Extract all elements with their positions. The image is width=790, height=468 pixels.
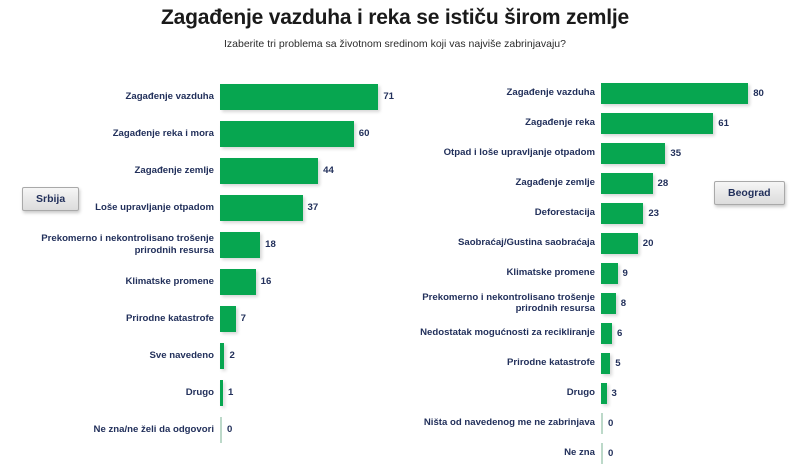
bar[interactable] bbox=[220, 232, 260, 258]
bar[interactable] bbox=[601, 323, 612, 344]
chart-page: Zagađenje vazduha i reka se ističu širom… bbox=[0, 0, 790, 453]
bar-value-label: 60 bbox=[354, 128, 370, 139]
bar-category-label: Prekomerno i nekontrolisano trošenje pri… bbox=[395, 292, 601, 315]
panel-badge-srbija[interactable]: Srbija bbox=[22, 187, 79, 211]
bar-value-label: 61 bbox=[713, 118, 729, 129]
bar-row: Nedostatak mogućnosti za recikliranje6 bbox=[395, 318, 790, 348]
bar-row: Drugo3 bbox=[395, 378, 790, 408]
bar-track: 1 bbox=[220, 374, 395, 411]
bar-track: 71 bbox=[220, 78, 395, 115]
bar-row: Zagađenje zemlje44 bbox=[0, 152, 395, 189]
bar-track: 35 bbox=[601, 138, 790, 168]
chart-panel-srbija: Zagađenje vazduha71Zagađenje reka i mora… bbox=[0, 78, 395, 448]
bar-row: Ne zna0 bbox=[395, 438, 790, 468]
bar-track: 20 bbox=[601, 228, 790, 258]
bar-track: 0 bbox=[601, 408, 790, 438]
bar-track: 5 bbox=[601, 348, 790, 378]
bar-category-label: Otpad i loše upravljanje otpadom bbox=[395, 147, 601, 158]
bar-row: Prekomerno i nekontrolisano trošenje pri… bbox=[395, 288, 790, 318]
bar-value-label: 8 bbox=[616, 298, 626, 309]
bar[interactable] bbox=[220, 158, 318, 184]
bar-category-label: Zagađenje zemlje bbox=[395, 177, 601, 188]
bar-row: Ništa od navedenog me ne zabrinjava0 bbox=[395, 408, 790, 438]
bar-track: 44 bbox=[220, 152, 395, 189]
bar-value-label: 23 bbox=[643, 208, 659, 219]
bar-value-label: 80 bbox=[748, 88, 764, 99]
chart-panel-beograd: Zagađenje vazduha80Zagađenje reka61Otpad… bbox=[395, 78, 790, 468]
panel-badge-beograd[interactable]: Beograd bbox=[714, 181, 785, 205]
bar[interactable] bbox=[220, 269, 256, 295]
bar-row: Prekomerno i nekontrolisano trošenje pri… bbox=[0, 226, 395, 263]
bar[interactable] bbox=[601, 293, 616, 314]
bar-track: 61 bbox=[601, 108, 790, 138]
bar-value-label: 0 bbox=[603, 448, 613, 459]
bar-value-label: 5 bbox=[610, 358, 620, 369]
bar-value-label: 37 bbox=[303, 202, 319, 213]
bar-track: 3 bbox=[601, 378, 790, 408]
bar-row: Klimatske promene9 bbox=[395, 258, 790, 288]
bar[interactable] bbox=[601, 173, 653, 194]
bar-track: 8 bbox=[601, 288, 790, 318]
bar-track: 37 bbox=[220, 189, 395, 226]
bar-row: Prirodne katastrofe5 bbox=[395, 348, 790, 378]
bar-category-label: Zagađenje zemlje bbox=[0, 165, 220, 176]
bar-category-label: Prekomerno i nekontrolisano trošenje pri… bbox=[0, 233, 220, 256]
bar-category-label: Zagađenje reka bbox=[395, 117, 601, 128]
bar[interactable] bbox=[220, 84, 378, 110]
bar-value-label: 18 bbox=[260, 239, 276, 250]
bar[interactable] bbox=[601, 353, 610, 374]
bar-track: 60 bbox=[220, 115, 395, 152]
bar-row: Ne zna/ne želi da odgovori0 bbox=[0, 411, 395, 448]
bar-value-label: 35 bbox=[665, 148, 681, 159]
bar-row: Klimatske promene16 bbox=[0, 263, 395, 300]
bar-track: 80 bbox=[601, 78, 790, 108]
bar-track: 0 bbox=[220, 411, 395, 448]
bar-category-label: Deforestacija bbox=[395, 207, 601, 218]
bar[interactable] bbox=[220, 306, 236, 332]
bar-row: Drugo1 bbox=[0, 374, 395, 411]
bar-row: Zagađenje vazduha71 bbox=[0, 78, 395, 115]
bar-category-label: Sve navedeno bbox=[0, 350, 220, 361]
bar[interactable] bbox=[601, 233, 638, 254]
bar-category-label: Drugo bbox=[395, 387, 601, 398]
bar-row: Zagađenje reka i mora60 bbox=[0, 115, 395, 152]
bar-value-label: 71 bbox=[378, 91, 394, 102]
bar[interactable] bbox=[220, 121, 354, 147]
bar-track: 0 bbox=[601, 438, 790, 468]
bar-row: Saobraćaj/Gustina saobraćaja20 bbox=[395, 228, 790, 258]
bar-row: Otpad i loše upravljanje otpadom35 bbox=[395, 138, 790, 168]
bar-row: Zagađenje reka61 bbox=[395, 108, 790, 138]
bar-track: 16 bbox=[220, 263, 395, 300]
bar-category-label: Ništa od navedenog me ne zabrinjava bbox=[395, 417, 601, 428]
bar-category-label: Prirodne katastrofe bbox=[0, 313, 220, 324]
bar-category-label: Saobraćaj/Gustina saobraćaja bbox=[395, 237, 601, 248]
bar-category-label: Ne zna bbox=[395, 447, 601, 458]
bar-value-label: 28 bbox=[653, 178, 669, 189]
bar-row: Sve navedeno2 bbox=[0, 337, 395, 374]
bar-value-label: 2 bbox=[224, 350, 234, 361]
bar-category-label: Ne zna/ne želi da odgovori bbox=[0, 424, 220, 435]
bar-category-label: Prirodne katastrofe bbox=[395, 357, 601, 368]
bar[interactable] bbox=[601, 203, 643, 224]
bar-row: Zagađenje vazduha80 bbox=[395, 78, 790, 108]
page-title: Zagađenje vazduha i reka se ističu širom… bbox=[0, 6, 790, 30]
bar-value-label: 3 bbox=[607, 388, 617, 399]
bar-track: 7 bbox=[220, 300, 395, 337]
bar-category-label: Zagađenje vazduha bbox=[395, 87, 601, 98]
chart-subtitle: Izaberite tri problema sa životnom sredi… bbox=[0, 38, 790, 50]
bar-value-label: 7 bbox=[236, 313, 246, 324]
bar-track: 2 bbox=[220, 337, 395, 374]
bar-value-label: 9 bbox=[618, 268, 628, 279]
bar-category-label: Zagađenje reka i mora bbox=[0, 128, 220, 139]
bar-value-label: 1 bbox=[223, 387, 233, 398]
bar-row: Prirodne katastrofe7 bbox=[0, 300, 395, 337]
bar-value-label: 16 bbox=[256, 276, 272, 287]
bar[interactable] bbox=[220, 195, 303, 221]
bar-value-label: 0 bbox=[222, 424, 232, 435]
bar-track: 18 bbox=[220, 226, 395, 263]
bar-category-label: Zagađenje vazduha bbox=[0, 91, 220, 102]
bar[interactable] bbox=[601, 83, 748, 104]
bar-track: 6 bbox=[601, 318, 790, 348]
bar-category-label: Drugo bbox=[0, 387, 220, 398]
bar[interactable] bbox=[601, 263, 618, 284]
bar-track: 9 bbox=[601, 258, 790, 288]
bar-value-label: 44 bbox=[318, 165, 334, 176]
bar[interactable] bbox=[601, 143, 665, 164]
bar-category-label: Nedostatak mogućnosti za recikliranje bbox=[395, 327, 601, 338]
bar-value-label: 6 bbox=[612, 328, 622, 339]
bar-category-label: Klimatske promene bbox=[0, 276, 220, 287]
bar-value-label: 0 bbox=[603, 418, 613, 429]
bar[interactable] bbox=[601, 113, 713, 134]
bar-category-label: Klimatske promene bbox=[395, 267, 601, 278]
bar-value-label: 20 bbox=[638, 238, 654, 249]
